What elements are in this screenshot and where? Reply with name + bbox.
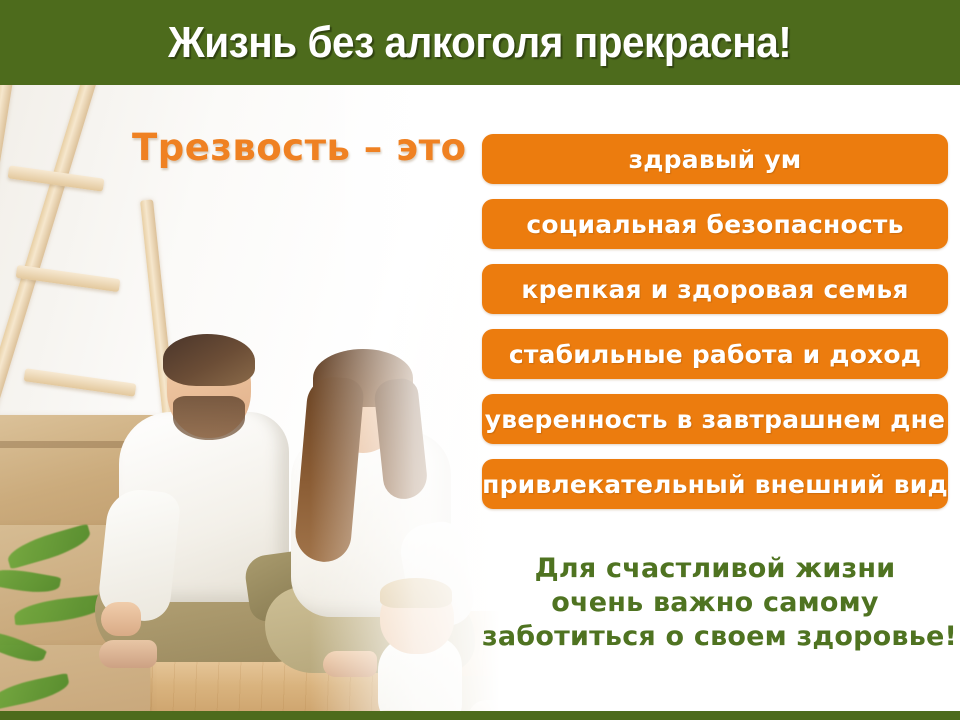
closing-message: Для счастливой жизни очень важно самому …: [482, 552, 948, 654]
benefit-label: стабильные работа и доход: [509, 340, 921, 369]
father-foot: [99, 640, 157, 668]
photo-fade-overlay: [310, 85, 500, 711]
benefit-item: социальная безопасность: [482, 199, 948, 249]
plant-leaf: [13, 594, 107, 625]
benefit-label: привлекательный внешний вид: [482, 470, 948, 499]
benefits-list: здравый ум социальная безопасность крепк…: [482, 134, 948, 524]
benefit-label: крепкая и здоровая семья: [521, 275, 908, 304]
tagline-text: Трезвость – это: [132, 126, 466, 169]
plant-leaf: [0, 565, 61, 598]
father-hand: [101, 602, 141, 636]
closing-line-3: заботиться о своем здоровье!: [482, 620, 948, 654]
family-photo: [0, 85, 500, 711]
benefit-item: крепкая и здоровая семья: [482, 264, 948, 314]
benefit-item: уверенность в завтрашнем дне: [482, 394, 948, 444]
benefit-label: здравый ум: [629, 145, 802, 174]
closing-line-2: очень важно самому: [482, 586, 948, 620]
poster-root: Жизнь без алкоголя прекрасна!: [0, 0, 960, 720]
plant-leaf: [4, 524, 93, 570]
father-hair: [163, 334, 255, 386]
benefit-label: уверенность в завтрашнем дне: [485, 405, 945, 434]
plant-leaf: [0, 673, 71, 710]
benefit-item: стабильные работа и доход: [482, 329, 948, 379]
plant-leaf: [0, 625, 47, 669]
benefit-label: социальная безопасность: [526, 210, 903, 239]
closing-line-1: Для счастливой жизни: [482, 552, 948, 586]
header-banner: Жизнь без алкоголя прекрасна!: [0, 0, 960, 85]
benefit-item: привлекательный внешний вид: [482, 459, 948, 509]
page-title: Жизнь без алкоголя прекрасна!: [168, 21, 791, 65]
father-beard: [173, 396, 245, 440]
benefit-item: здравый ум: [482, 134, 948, 184]
footer-band: [0, 711, 960, 720]
father-arm: [96, 487, 181, 624]
